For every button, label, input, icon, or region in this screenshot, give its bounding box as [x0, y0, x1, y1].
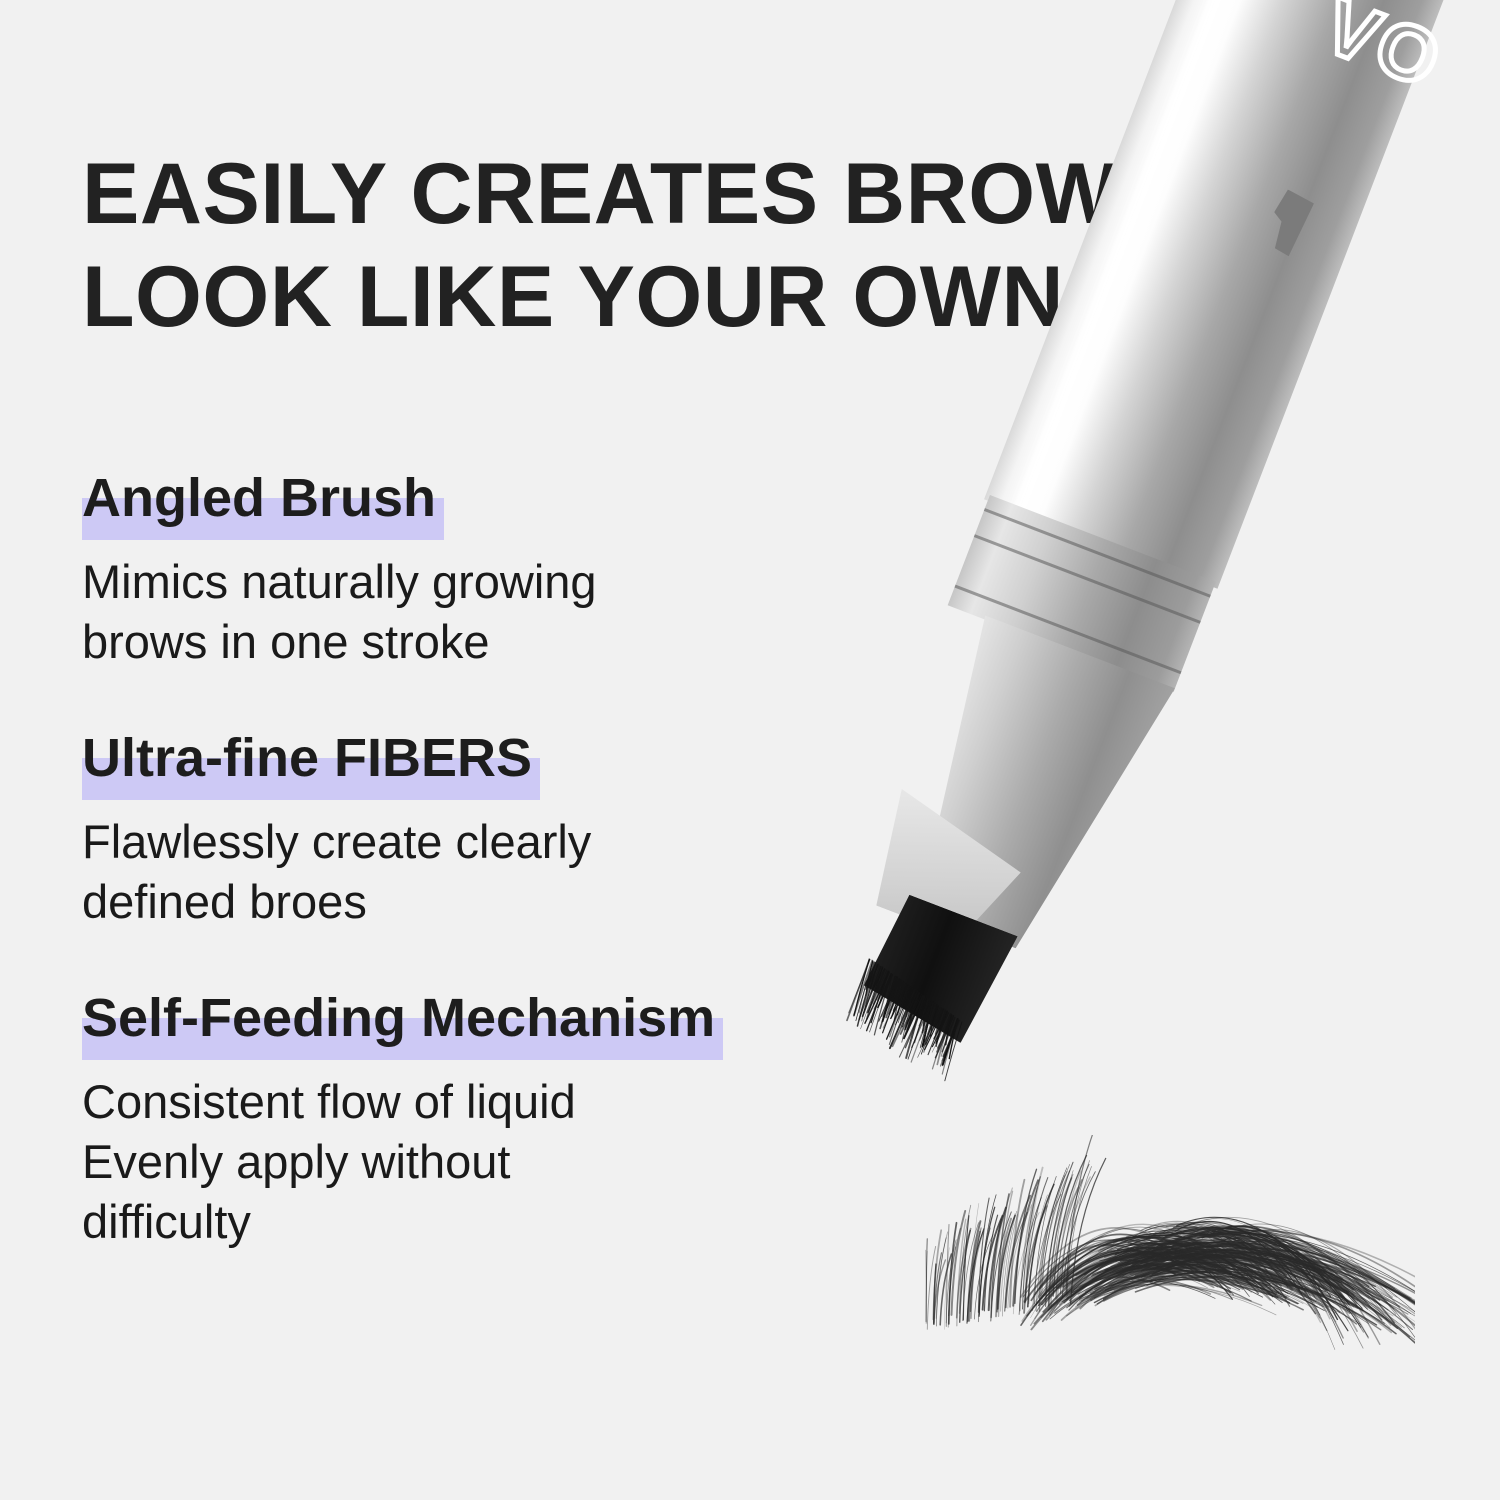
feature-description: Consistent flow of liquid Evenly apply w… [82, 1072, 982, 1252]
pen-ring [984, 508, 1211, 598]
feature-title-row: Ultra-fine FIBERS [82, 728, 982, 788]
feature-description: Flawlessly create clearly defined broes [82, 812, 982, 932]
feature-title-row: Angled Brush [82, 468, 982, 528]
feature-title-highlighted: Angled Brush [82, 468, 444, 528]
feature-item-angled-brush: Angled Brush Mimics naturally growing br… [82, 468, 982, 672]
feature-item-self-feeding-mechanism: Self-Feeding Mechanism Consistent flow o… [82, 988, 982, 1252]
page-title: EASILY CREATES BROWS LOOK LIKE YOUR OWN [82, 143, 1262, 349]
pen-logo-mark-icon [1261, 188, 1315, 258]
feature-item-ultra-fine-fibers: Ultra-fine FIBERS Flawlessly create clea… [82, 728, 982, 932]
pen-brand-logo: VO [1312, 0, 1455, 107]
feature-title-highlighted: Ultra-fine FIBERS [82, 728, 540, 788]
pen-collar [948, 495, 1216, 692]
pen-ring [954, 585, 1181, 675]
feature-description: Mimics naturally growing brows in one st… [82, 552, 982, 672]
pen-ring [974, 534, 1201, 624]
feature-title-row: Self-Feeding Mechanism [82, 988, 982, 1048]
feature-list: Angled Brush Mimics naturally growing br… [82, 468, 982, 1252]
product-infographic: EASILY CREATES BROWS LOOK LIKE YOUR OWN … [0, 0, 1500, 1500]
feature-title-highlighted: Self-Feeding Mechanism [82, 988, 723, 1048]
